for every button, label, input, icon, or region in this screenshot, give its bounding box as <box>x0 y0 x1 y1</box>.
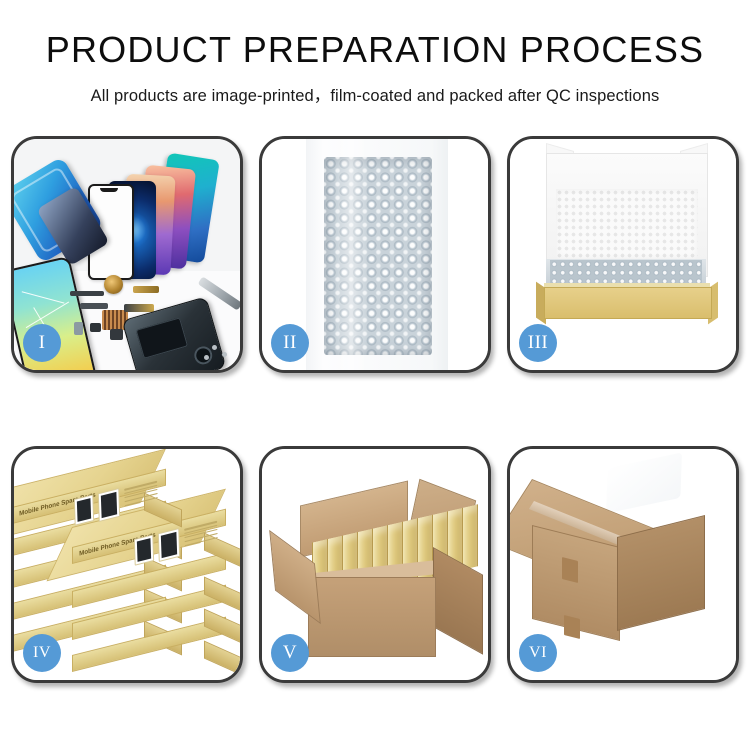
step-badge-6: VI <box>519 634 557 672</box>
process-step-grid: I II <box>11 136 739 683</box>
screw-icon <box>222 352 227 357</box>
retail-box <box>72 571 224 591</box>
page-subtitle: All products are image-printed，film-coat… <box>0 82 750 106</box>
plastic-sheen <box>334 139 368 370</box>
carton-front <box>308 577 436 657</box>
box-front-panel <box>544 287 712 319</box>
product-preparation-process-page: PRODUCT PREPARATION PROCESS All products… <box>0 0 750 750</box>
retail-box <box>72 603 224 623</box>
step-badge-3: III <box>519 324 557 362</box>
step-badge-4: IV <box>23 634 61 672</box>
step-badge-1: I <box>23 324 61 362</box>
small-part-icon <box>74 322 83 335</box>
box-screen-thumb <box>74 494 94 525</box>
crack-line <box>22 291 65 303</box>
header: PRODUCT PREPARATION PROCESS All products… <box>0 0 750 106</box>
carton-handle-tab <box>564 615 580 639</box>
speaker-coil-icon <box>104 275 123 294</box>
bubble-pouch-icon <box>306 139 448 370</box>
step-panel-6: VI <box>507 446 739 683</box>
screw-icon <box>204 355 209 360</box>
small-part-icon <box>110 329 123 340</box>
gold-box <box>462 504 478 570</box>
step-badge-2: II <box>271 324 309 362</box>
step-panel-5: V <box>259 446 491 683</box>
screw-icon <box>212 345 217 350</box>
box-screen-thumb <box>158 528 180 562</box>
flex-cable-icon <box>133 286 159 293</box>
carton-handle-tab <box>562 557 578 583</box>
box-screen-thumb <box>134 534 154 565</box>
retail-box <box>72 635 224 655</box>
retail-box-labelled: Mobile Phone Spare Parts <box>14 487 164 507</box>
step-panel-3: III <box>507 136 739 373</box>
retail-box-labelled: Mobile Phone Spare Parts <box>72 527 224 547</box>
box-screen-thumb <box>98 488 120 522</box>
step-panel-1: I <box>11 136 243 373</box>
step-panel-4: Mobile Phone Spare Parts Mobile Phone Sp… <box>11 446 243 683</box>
step-badge-5: V <box>271 634 309 672</box>
foam-sheet-icon <box>556 189 698 259</box>
flex-cable-icon <box>80 303 108 309</box>
flex-cable-icon <box>124 304 154 312</box>
box-side <box>204 641 240 676</box>
page-title: PRODUCT PREPARATION PROCESS <box>0 30 750 70</box>
small-part-icon <box>90 323 101 332</box>
flex-cable-icon <box>70 291 104 296</box>
step-panel-2: II <box>259 136 491 373</box>
